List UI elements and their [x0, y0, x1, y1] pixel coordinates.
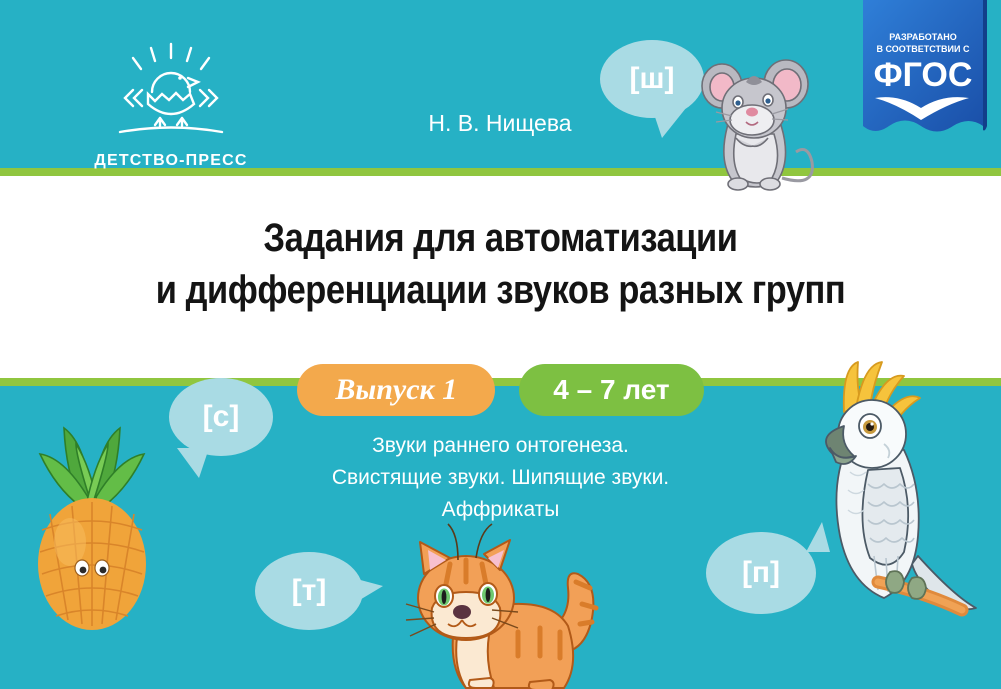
- fgos-line1: РАЗРАБОТАНО: [889, 32, 956, 42]
- publisher-name: ДЕТСТВО-ПРЕСС: [76, 152, 266, 170]
- speech-bubble-p-text: [п]: [742, 556, 780, 590]
- subtitle-line-3: Аффрикаты: [0, 494, 1001, 526]
- hatching-chick-icon: [76, 42, 266, 142]
- subtitle-line-2: Свистящие звуки. Шипящие звуки.: [0, 462, 1001, 494]
- speech-bubble-tail: [652, 108, 686, 138]
- fgos-line3: ФГОС: [874, 56, 973, 94]
- publisher-logo: ДЕТСТВО-ПРЕСС: [76, 42, 266, 142]
- page-title: Задания для автоматизации и дифференциац…: [70, 212, 931, 316]
- issue-badge: Выпуск 1: [297, 364, 495, 416]
- cat-illustration: [400, 512, 620, 689]
- mouse-illustration: [690, 38, 822, 210]
- speech-bubble-sh-text: [ш]: [630, 62, 675, 96]
- subtitle-line-1: Звуки раннего онтогенеза.: [0, 430, 1001, 462]
- speech-bubble-sh: [ш]: [600, 40, 704, 118]
- speech-bubble-t-text: [т]: [292, 574, 327, 608]
- subtitle: Звуки раннего онтогенеза. Свистящие звук…: [0, 430, 1001, 526]
- book-cover: ДЕТСТВО-ПРЕСС Н. В. Нищева РАЗРАБОТАНО В…: [0, 0, 1001, 689]
- fgos-line2: В СООТВЕТСТВИИ С: [877, 44, 970, 54]
- badge-row: Выпуск 1 4 – 7 лет: [0, 364, 1001, 416]
- speech-bubble-tail: [353, 578, 383, 604]
- fgos-badge: РАЗРАБОТАНО В СООТВЕТСТВИИ С ФГОС: [859, 0, 987, 152]
- author-name: Н. В. Нищева: [330, 110, 670, 137]
- title-line-1: Задания для автоматизации: [70, 212, 931, 264]
- speech-bubble-t: [т]: [255, 552, 363, 630]
- age-badge: 4 – 7 лет: [519, 364, 703, 416]
- title-line-2: и дифференциации звуков разных групп: [70, 264, 931, 316]
